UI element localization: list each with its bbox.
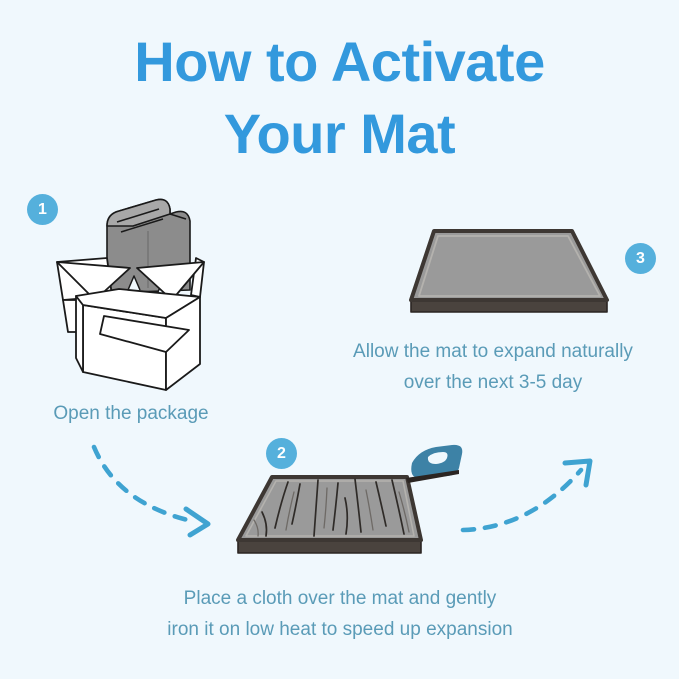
step-caption-1-line-1: Open the package — [0, 398, 262, 429]
open-box-with-mat-icon — [57, 199, 204, 390]
arrow-step2-to-step3 — [463, 461, 590, 530]
iron-icon — [406, 445, 462, 483]
page-title-line-1: How to Activate — [0, 26, 679, 98]
step-caption-2: Place a cloth over the mat and gently ir… — [110, 583, 570, 646]
step-badge-1: 1 — [27, 194, 58, 225]
step-caption-3-line-1: Allow the mat to expand naturally — [307, 336, 679, 367]
step-badge-3: 3 — [625, 243, 656, 274]
step-caption-2-line-1: Place a cloth over the mat and gently — [110, 583, 570, 614]
step-caption-2-line-2: iron it on low heat to speed up expansio… — [110, 614, 570, 645]
wrinkled-mat-icon — [238, 477, 421, 553]
infographic-canvas: How to Activate Your Mat — [0, 0, 679, 679]
step-caption-3-line-2: over the next 3-5 day — [307, 367, 679, 398]
step-badge-2: 2 — [266, 438, 297, 469]
page-title: How to Activate Your Mat — [0, 26, 679, 169]
step-caption-1: Open the package — [0, 398, 262, 429]
step-caption-3: Allow the mat to expand naturally over t… — [307, 336, 679, 399]
flat-mat-icon — [411, 231, 607, 312]
arrow-step1-to-step2 — [94, 447, 208, 535]
page-title-line-2: Your Mat — [0, 98, 679, 170]
